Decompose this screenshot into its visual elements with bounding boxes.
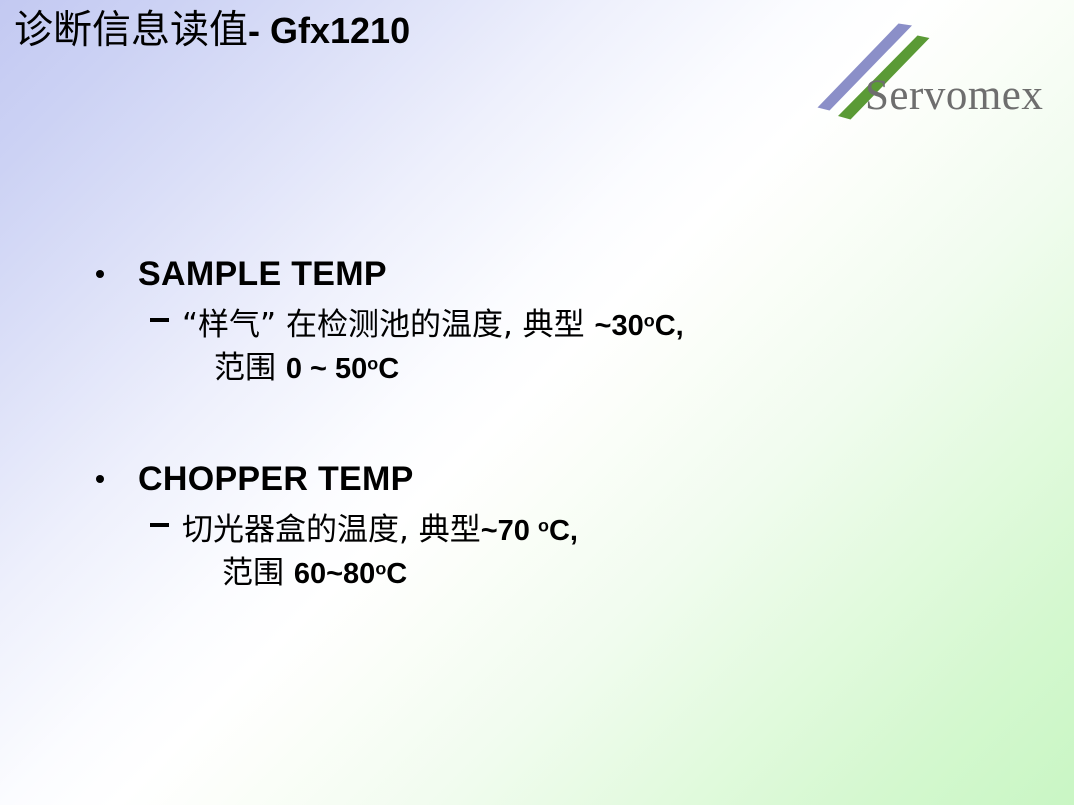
bullet-group-sample-temp: SAMPLE TEMP “样气” 在检测池的温度, 典型 ~30oC, 范围 0… [92,252,684,390]
subbullet-chopper-line-2: 范围 60~80oC [182,552,578,595]
subbullet-sample-line-1-unit: oC, [644,310,684,342]
subbullet-sample-line-1-text: “样气” 在检测池的温度, 典型 [182,307,595,343]
subbullet-sample-line-2-value: 0 ~ 50 [286,353,367,385]
subbullet-chopper-line-1: 切光器盒的温度, 典型~70 oC, [182,509,578,552]
subbullet-sample-temp: “样气” 在检测池的温度, 典型 ~30oC, 范围 0 ~ 50oC [92,304,684,390]
subbullet-sample-line-2-text: 范围 [214,350,286,386]
subbullet-sample-line-1: “样气” 在检测池的温度, 典型 ~30oC, [182,304,684,347]
subbullet-sample-line-2: 范围 0 ~ 50oC [182,347,684,390]
subbullet-chopper-line-1-text: 切光器盒的温度, 典型 [182,512,481,548]
bullet-chopper-temp-label: CHOPPER TEMP [138,457,414,501]
bullet-dash-icon [150,523,169,527]
bullet-sample-temp-label: SAMPLE TEMP [138,252,387,296]
subbullet-sample-line-1-value: ~30 [595,310,644,342]
subbullet-chopper-line-2-text: 范围 [222,555,294,591]
bullet-dot-icon [96,475,104,483]
slide-body: SAMPLE TEMP “样气” 在检测池的温度, 典型 ~30oC, 范围 0… [0,0,1074,805]
slide-canvas: 诊断信息读值- Gfx1210 Servomex SAMPLE TEMP “样气… [0,0,1074,805]
subbullet-chopper-line-1-unit: oC, [538,515,578,547]
subbullet-chopper-line-2-unit: oC [375,558,407,590]
subbullet-chopper-temp: 切光器盒的温度, 典型~70 oC, 范围 60~80oC [92,509,578,595]
bullet-dash-icon [150,318,169,322]
subbullet-sample-line-2-unit: oC [367,353,399,385]
bullet-chopper-temp: CHOPPER TEMP [92,457,578,501]
bullet-sample-temp: SAMPLE TEMP [92,252,684,296]
bullet-dot-icon [96,270,104,278]
subbullet-chopper-line-2-value: 60~80 [294,558,375,590]
subbullet-chopper-line-1-value: ~70 [481,515,538,547]
bullet-group-chopper-temp: CHOPPER TEMP 切光器盒的温度, 典型~70 oC, 范围 60~80… [92,457,578,595]
